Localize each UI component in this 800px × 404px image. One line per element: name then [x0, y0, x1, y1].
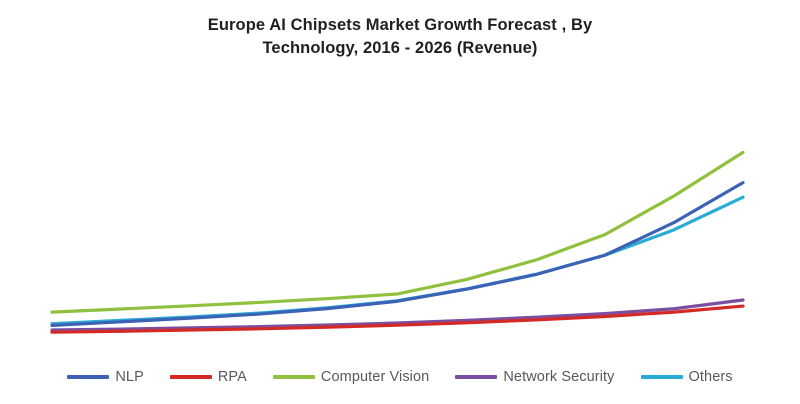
- legend-item-label: Computer Vision: [321, 369, 429, 385]
- legend-item-computer-vision[interactable]: Computer Vision: [273, 369, 429, 385]
- series-line-nlp: [52, 183, 743, 326]
- legend-swatch-icon: [67, 375, 109, 379]
- legend-item-others[interactable]: Others: [641, 369, 733, 385]
- legend-item-rpa[interactable]: RPA: [170, 369, 247, 385]
- legend-swatch-icon: [455, 375, 497, 379]
- legend-item-label: RPA: [218, 369, 247, 385]
- legend-item-network-security[interactable]: Network Security: [455, 369, 614, 385]
- plot-area: [0, 80, 800, 360]
- series-line-computer-vision: [52, 152, 743, 312]
- legend-swatch-icon: [170, 375, 212, 379]
- chart-container: Europe AI Chipsets Market Growth Forecas…: [0, 0, 800, 404]
- legend-item-label: Network Security: [503, 369, 614, 385]
- legend-item-label: NLP: [115, 369, 144, 385]
- chart-legend: NLPRPAComputer VisionNetwork SecurityOth…: [0, 360, 800, 394]
- legend-item-label: Others: [689, 369, 733, 385]
- chart-title-line-2: Technology, 2016 - 2026 (Revenue): [262, 39, 537, 57]
- line-chart-svg: [0, 80, 800, 360]
- legend-swatch-icon: [641, 375, 683, 379]
- legend-swatch-icon: [273, 375, 315, 379]
- chart-title: Europe AI Chipsets Market Growth Forecas…: [0, 14, 800, 61]
- legend-item-nlp[interactable]: NLP: [67, 369, 144, 385]
- chart-title-line-1: Europe AI Chipsets Market Growth Forecas…: [208, 16, 593, 34]
